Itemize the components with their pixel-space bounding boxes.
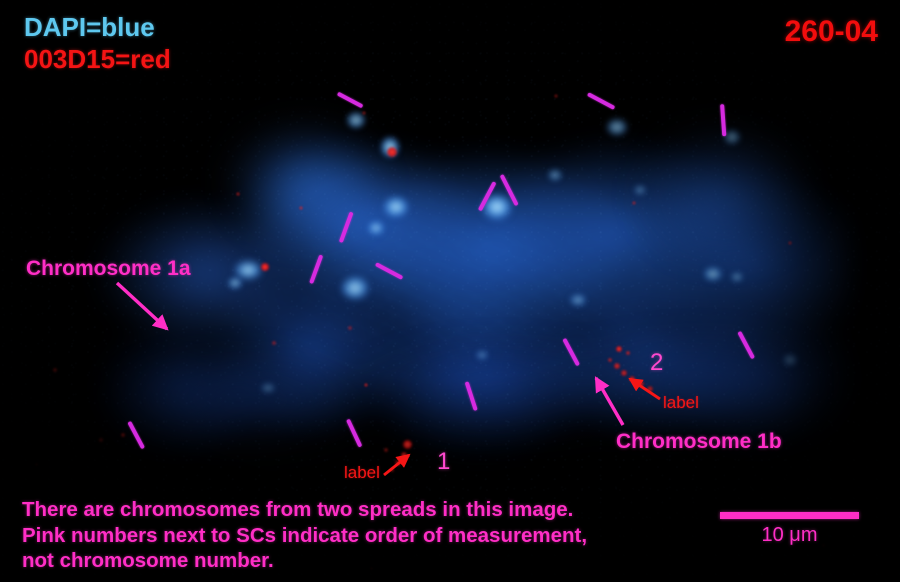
arrow-label-left	[384, 455, 409, 475]
annotation-arrows	[0, 0, 900, 582]
chromosome-1b-label: Chromosome 1b	[616, 431, 782, 452]
caption-line-1: There are chromosomes from two spreads i…	[22, 497, 587, 523]
caption-line-3: not chromosome number.	[22, 548, 587, 574]
label-callout-left: label	[344, 464, 380, 481]
probe-legend-text: 003D15=red	[24, 46, 171, 72]
sc-number-1: 1	[437, 450, 450, 474]
caption-line-2: Pink numbers next to SCs indicate order …	[22, 523, 587, 549]
micrograph-canvas: DAPI=blue 003D15=red 260-04 Chromosome 1…	[0, 0, 900, 582]
label-callout-right: label	[663, 394, 699, 411]
scale-bar-label: 10 μm	[720, 524, 859, 547]
arrow-label-right	[630, 379, 660, 399]
specimen-id-text: 260-04	[785, 17, 878, 47]
arrow-chromosome-1b	[596, 378, 623, 425]
scale-bar	[720, 512, 859, 519]
dapi-legend-text: DAPI=blue	[24, 14, 155, 40]
arrow-chromosome-1a	[117, 283, 167, 329]
figure-caption: There are chromosomes from two spreads i…	[22, 497, 587, 574]
sc-number-2: 2	[650, 351, 663, 375]
chromosome-1a-label: Chromosome 1a	[26, 258, 191, 279]
